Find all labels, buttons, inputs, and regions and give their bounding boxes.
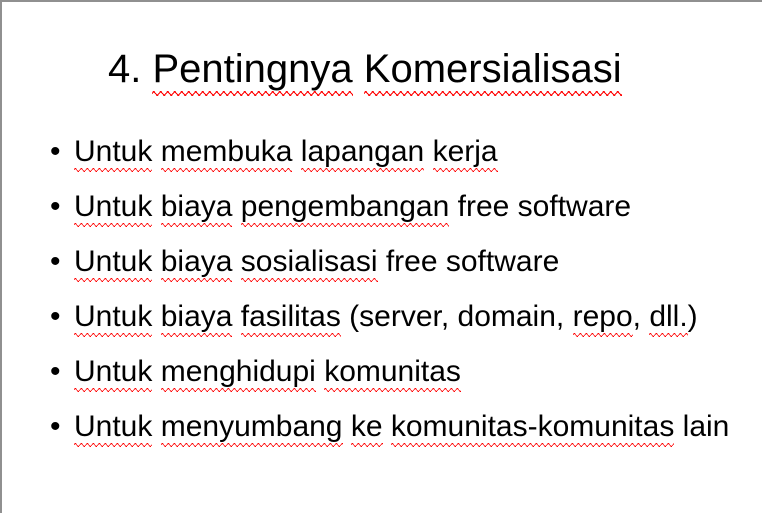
bullet-marker-icon: • xyxy=(50,188,64,225)
comma: , xyxy=(633,300,650,333)
title-word-komersialisasi: Komersialisasi xyxy=(364,47,622,96)
word-komunitas: komunitas xyxy=(324,355,461,392)
title-space xyxy=(353,47,364,91)
word-menghidupi: menghidupi xyxy=(161,355,316,392)
word-membuka: membuka xyxy=(161,135,293,172)
word-biaya: biaya xyxy=(161,190,233,227)
space xyxy=(152,135,160,168)
phrase-server-domain: (server, domain, xyxy=(341,300,573,333)
list-item-text: Untuk menyumbang ke komunitas-komunitas … xyxy=(74,408,748,445)
close-paren: ) xyxy=(688,300,698,333)
word-lapangan: lapangan xyxy=(301,135,424,172)
word-menyumbang: menyumbang xyxy=(161,410,343,447)
slide-body-placeholder[interactable]: • Untuk membuka lapangan kerja • Untuk b… xyxy=(48,133,748,445)
list-item: • Untuk biaya pengembangan free software xyxy=(48,188,748,225)
word-untuk: Untuk xyxy=(74,355,152,392)
list-item: • Untuk menyumbang ke komunitas-komunita… xyxy=(48,408,748,445)
page-title: 4. Pentingnya Komersialisasi xyxy=(108,46,708,92)
list-item-text: Untuk biaya fasilitas (server, domain, r… xyxy=(74,298,748,335)
list-item: • Untuk menghidupi komunitas xyxy=(48,353,748,390)
word-untuk: Untuk xyxy=(74,190,152,227)
space xyxy=(152,190,160,223)
bullet-marker-icon: • xyxy=(50,298,64,335)
word-kerja: kerja xyxy=(433,135,498,172)
space xyxy=(232,190,240,223)
presentation-slide: 4. Pentingnya Komersialisasi • Untuk mem… xyxy=(0,0,762,513)
list-item: • Untuk membuka lapangan kerja xyxy=(48,133,748,170)
list-item-text: Untuk membuka lapangan kerja xyxy=(74,133,748,170)
bullet-marker-icon: • xyxy=(50,133,64,170)
word-komunitas-komunitas: komunitas-komunitas xyxy=(391,410,674,447)
slide-title-placeholder[interactable]: 4. Pentingnya Komersialisasi xyxy=(108,46,708,92)
word-repo: repo xyxy=(573,300,633,337)
word-biaya: biaya xyxy=(161,300,233,337)
word-pengembangan: pengembangan xyxy=(241,190,450,227)
bullet-marker-icon: • xyxy=(50,353,64,390)
word-untuk: Untuk xyxy=(74,135,152,172)
space xyxy=(424,135,432,168)
list-item-text: Untuk menghidupi komunitas xyxy=(74,353,748,390)
bullet-marker-icon: • xyxy=(50,408,64,445)
space xyxy=(152,355,160,388)
word-lain: lain xyxy=(674,410,729,443)
list-item-text: Untuk biaya sosialisasi free software xyxy=(74,243,748,280)
space xyxy=(292,135,300,168)
word-biaya: biaya xyxy=(161,245,233,282)
space xyxy=(152,410,160,443)
word-ke: ke xyxy=(351,410,383,447)
phrase-free-software: free software xyxy=(458,190,631,223)
word-fasilitas: fasilitas xyxy=(241,300,341,337)
space xyxy=(232,300,240,333)
title-word-pentingnya: Pentingnya xyxy=(152,47,352,96)
word-dll: dll. xyxy=(649,300,687,337)
space xyxy=(316,355,324,388)
space xyxy=(232,245,240,278)
space xyxy=(343,410,351,443)
word-sosialisasi: sosialisasi xyxy=(241,245,378,282)
space xyxy=(378,245,386,278)
space xyxy=(383,410,391,443)
word-untuk: Untuk xyxy=(74,245,152,282)
phrase-free-software: free software xyxy=(386,245,559,278)
word-untuk: Untuk xyxy=(74,410,152,447)
space xyxy=(152,300,160,333)
space xyxy=(449,190,457,223)
title-number: 4. xyxy=(108,47,152,91)
bullet-marker-icon: • xyxy=(50,243,64,280)
list-item: • Untuk biaya sosialisasi free software xyxy=(48,243,748,280)
word-untuk: Untuk xyxy=(74,300,152,337)
list-item-text: Untuk biaya pengembangan free software xyxy=(74,188,748,225)
list-item: • Untuk biaya fasilitas (server, domain,… xyxy=(48,298,748,335)
space xyxy=(152,245,160,278)
